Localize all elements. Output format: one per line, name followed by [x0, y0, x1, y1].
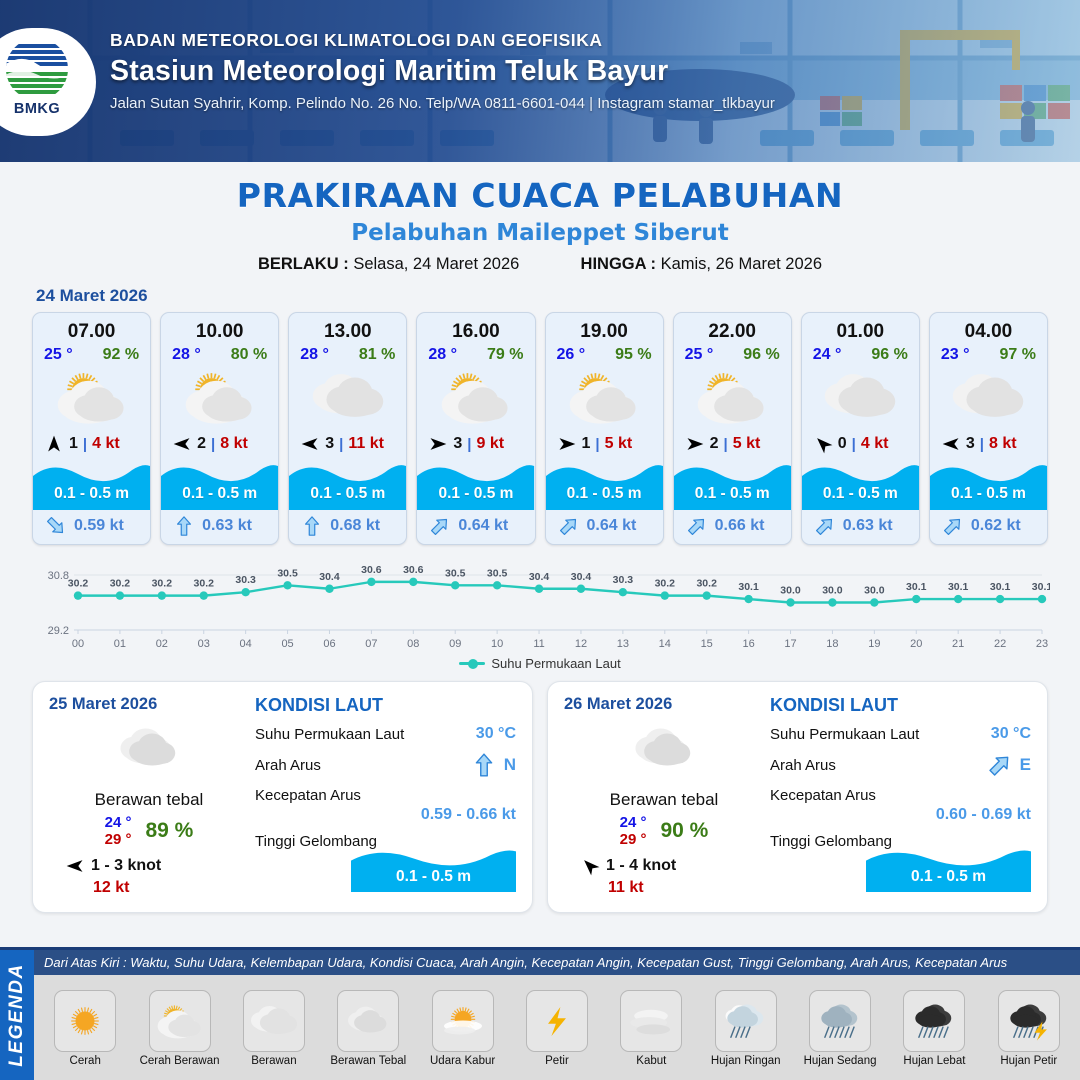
- wind-direction-e-icon: [685, 434, 705, 454]
- sst-chart: 30.829.230.20030.20130.20230.20330.30430…: [30, 557, 1050, 652]
- card-wind-row: 3 | 11 kt: [289, 428, 406, 458]
- title-block: PRAKIRAAN CUACA PELABUHAN Pelabuhan Mail…: [0, 162, 1080, 274]
- wind-direction-w-icon: [300, 434, 320, 454]
- card-current-row: 0.64 kt: [417, 510, 534, 544]
- card-weather-icon: [802, 366, 919, 428]
- panel-wave-height: 0.1 - 0.5 m: [866, 868, 1031, 886]
- legend-item-label: Hujan Lebat: [903, 1055, 965, 1067]
- card-current-speed: 0.63 kt: [202, 517, 252, 535]
- card-wind-row: 0 | 4 kt: [802, 428, 919, 458]
- panel-wind-range: 1 - 3 knot: [91, 857, 161, 875]
- daily-panel: 26 Maret 2026 Berawan tebal 24 ° 29 ° 90…: [547, 681, 1048, 913]
- svg-text:30.1: 30.1: [738, 581, 759, 593]
- legend-item-icon: [337, 990, 399, 1052]
- panel-temp-max: 29 °: [105, 831, 132, 848]
- panel-sst-label: Suhu Permukaan Laut: [255, 726, 404, 743]
- card-gust: 5 kt: [605, 435, 633, 453]
- card-temperature: 25 °: [685, 346, 714, 364]
- cerah-berawan-icon: [177, 367, 263, 427]
- svg-text:10: 10: [491, 638, 503, 650]
- legend-item-icon: [809, 990, 871, 1052]
- legend-item-label: Hujan Ringan: [711, 1055, 781, 1067]
- card-wind-speed: 1: [69, 435, 78, 453]
- svg-text:30.0: 30.0: [780, 585, 801, 597]
- card-wind-row: 3 | 8 kt: [930, 428, 1047, 458]
- card-current-speed: 0.64 kt: [587, 517, 637, 535]
- panel-current-dir: E: [987, 752, 1031, 778]
- panel-date: 26 Maret 2026: [564, 695, 764, 714]
- svg-text:30.5: 30.5: [445, 567, 466, 579]
- card-separator: |: [211, 436, 215, 453]
- svg-text:03: 03: [198, 638, 210, 650]
- card-time: 07.00: [33, 313, 150, 343]
- wind-direction-nw-icon: [813, 434, 833, 454]
- legend-item: Cerah: [40, 990, 130, 1067]
- panel-date: 25 Maret 2026: [49, 695, 249, 714]
- forecast-card: 19.00 26 ° 95 % 1 | 5 kt 0.1 - 0.5 m: [545, 312, 664, 545]
- card-wave: 0.1 - 0.5 m: [802, 458, 919, 510]
- wind-direction-n-icon: [44, 434, 64, 454]
- legend-label: Suhu Permukaan Laut: [491, 656, 620, 671]
- legend-item-icon: [526, 990, 588, 1052]
- svg-text:00: 00: [72, 638, 84, 650]
- svg-text:30.2: 30.2: [152, 578, 173, 590]
- berawan-tebal-icon: [624, 721, 704, 777]
- card-humidity: 79 %: [487, 346, 523, 364]
- hourly-forecast-cards: 07.00 25 ° 92 % 1 | 4 kt 0.1 - 0.5 m: [0, 312, 1080, 545]
- legend-items: Cerah Cerah Berawan Berawan Berawan Teba…: [34, 975, 1080, 1080]
- panel-sst-value: 30 °C: [476, 725, 516, 743]
- card-temperature: 24 °: [813, 346, 842, 364]
- svg-text:14: 14: [659, 638, 671, 650]
- card-gust: 11 kt: [348, 435, 384, 453]
- card-time: 01.00: [802, 313, 919, 343]
- card-current-speed: 0.64 kt: [458, 517, 508, 535]
- panel-wave: 0.1 - 0.5 m: [351, 844, 516, 892]
- card-wind-row: 1 | 5 kt: [546, 428, 663, 458]
- card-temperature: 23 °: [941, 346, 970, 364]
- svg-text:30.4: 30.4: [571, 571, 592, 583]
- card-gust: 5 kt: [733, 435, 761, 453]
- card-wave: 0.1 - 0.5 m: [33, 458, 150, 510]
- legend-item-label: Berawan: [251, 1055, 296, 1067]
- panel-temps: 24 ° 29 ° 89 %: [49, 814, 249, 848]
- wind-direction-w-icon: [941, 434, 961, 454]
- card-wave: 0.1 - 0.5 m: [930, 458, 1047, 510]
- legend-caption: Dari Atas Kiri : Waktu, Suhu Udara, Kele…: [34, 950, 1080, 975]
- legend-item-icon: [998, 990, 1060, 1052]
- cerah-berawan-icon: [689, 367, 775, 427]
- daily-panel: 25 Maret 2026 Berawan tebal 24 ° 29 ° 89…: [32, 681, 533, 913]
- card-wave-height: 0.1 - 0.5 m: [161, 485, 278, 503]
- panel-current-speed: 0.60 - 0.69 kt: [770, 806, 1031, 824]
- card-wave-height: 0.1 - 0.5 m: [930, 485, 1047, 503]
- page-header: BMKG BADAN METEOROLOGI KLIMATOLOGI DAN G…: [0, 0, 1080, 162]
- svg-text:30.0: 30.0: [864, 585, 885, 597]
- panel-current-dir-label-value: N: [504, 755, 516, 775]
- legend-item: Hujan Ringan: [701, 990, 791, 1067]
- berawan-icon: [945, 367, 1031, 427]
- card-humidity: 80 %: [231, 346, 267, 364]
- panel-condition: Berawan tebal: [564, 790, 764, 810]
- hujan-petir-icon: [1001, 995, 1057, 1047]
- chart-legend: Suhu Permukaan Laut: [0, 656, 1080, 671]
- valid-until-value: Kamis, 26 Maret 2026: [661, 255, 822, 273]
- card-time: 13.00: [289, 313, 406, 343]
- hujan-lebat-icon: [906, 995, 962, 1047]
- panel-sst-value: 30 °C: [991, 725, 1031, 743]
- card-weather-icon: [289, 366, 406, 428]
- panel-wind-row: 1 - 3 knot: [49, 856, 249, 876]
- card-gust: 8 kt: [220, 435, 248, 453]
- legend-item-icon: [715, 990, 777, 1052]
- panel-current-speed-label: Kecepatan Arus: [770, 787, 876, 804]
- card-temperature: 26 °: [557, 346, 586, 364]
- svg-text:30.2: 30.2: [194, 578, 215, 590]
- berawan-icon: [305, 367, 391, 427]
- svg-text:30.0: 30.0: [822, 585, 843, 597]
- sst-chart-svg: 30.829.230.20030.20130.20230.20330.30430…: [30, 557, 1050, 652]
- svg-text:12: 12: [575, 638, 587, 650]
- card-wave: 0.1 - 0.5 m: [417, 458, 534, 510]
- card-wind-row: 2 | 8 kt: [161, 428, 278, 458]
- current-direction-ne-icon: [814, 515, 836, 537]
- card-separator: |: [724, 436, 728, 453]
- card-time: 22.00: [674, 313, 791, 343]
- svg-text:30.6: 30.6: [361, 564, 382, 576]
- svg-text:30.3: 30.3: [235, 574, 256, 586]
- card-wind-speed: 3: [325, 435, 334, 453]
- panel-gust: 12 kt: [49, 879, 249, 897]
- card-temperature: 28 °: [172, 346, 201, 364]
- daily-panels: 25 Maret 2026 Berawan tebal 24 ° 29 ° 89…: [0, 671, 1080, 913]
- panel-sea-heading: KONDISI LAUT: [770, 695, 1031, 716]
- svg-text:30.1: 30.1: [906, 581, 927, 593]
- card-wind-row: 3 | 9 kt: [417, 428, 534, 458]
- svg-text:16: 16: [742, 638, 754, 650]
- panel-temp-max: 29 °: [620, 831, 647, 848]
- card-wind-speed: 2: [710, 435, 719, 453]
- card-wind-speed: 3: [966, 435, 975, 453]
- svg-text:04: 04: [240, 638, 252, 650]
- svg-text:09: 09: [449, 638, 461, 650]
- card-separator: |: [852, 436, 856, 453]
- panel-humidity: 89 %: [145, 819, 193, 843]
- card-wave-height: 0.1 - 0.5 m: [417, 485, 534, 503]
- legend-item-icon: [243, 990, 305, 1052]
- svg-text:08: 08: [407, 638, 419, 650]
- page-title: PRAKIRAAN CUACA PELABUHAN: [0, 176, 1080, 215]
- forecast-day-label: 24 Maret 2026: [36, 286, 1080, 306]
- svg-text:11: 11: [533, 638, 544, 650]
- berawan-icon: [246, 995, 302, 1047]
- card-weather-icon: [930, 366, 1047, 428]
- card-humidity: 97 %: [1000, 346, 1036, 364]
- card-time: 16.00: [417, 313, 534, 343]
- station-name: Stasiun Meteorologi Maritim Teluk Bayur: [110, 55, 775, 88]
- current-direction-ne-icon: [429, 515, 451, 537]
- svg-text:22: 22: [994, 638, 1006, 650]
- wind-direction-w-icon: [65, 856, 85, 876]
- svg-text:17: 17: [784, 638, 796, 650]
- card-separator: |: [595, 436, 599, 453]
- legend-item-label: Hujan Sedang: [804, 1055, 877, 1067]
- card-current-row: 0.68 kt: [289, 510, 406, 544]
- bmkg-logo-text: BMKG: [14, 101, 60, 117]
- card-current-speed: 0.68 kt: [330, 517, 380, 535]
- panel-current-dir-label: Arah Arus: [770, 757, 836, 774]
- forecast-card: 04.00 23 ° 97 % 3 | 8 kt 0.1 - 0.5 m: [929, 312, 1048, 545]
- panel-sst-label: Suhu Permukaan Laut: [770, 726, 919, 743]
- legend-item-label: Berawan Tebal: [330, 1055, 406, 1067]
- berawan-tebal-icon: [109, 721, 189, 777]
- panel-sea-heading: KONDISI LAUT: [255, 695, 516, 716]
- legend-item: Hujan Petir: [984, 990, 1074, 1067]
- svg-text:30.5: 30.5: [277, 567, 298, 579]
- panel-wave-height: 0.1 - 0.5 m: [351, 868, 516, 886]
- wind-direction-e-icon: [557, 434, 577, 454]
- card-temperature: 28 °: [300, 346, 329, 364]
- card-current-row: 0.63 kt: [802, 510, 919, 544]
- svg-text:30.8: 30.8: [48, 570, 69, 582]
- legend-item: Hujan Sedang: [795, 990, 885, 1067]
- svg-text:05: 05: [281, 638, 293, 650]
- validity-row: BERLAKU : Selasa, 24 Maret 2026 HINGGA :…: [0, 255, 1080, 274]
- current-direction-ne-icon: [558, 515, 580, 537]
- panel-temps: 24 ° 29 ° 90 %: [564, 814, 764, 848]
- legend-side-label: LEGENDA: [6, 963, 28, 1066]
- card-weather-icon: [33, 366, 150, 428]
- panel-condition: Berawan tebal: [49, 790, 249, 810]
- panel-temp-min: 24 °: [105, 814, 132, 831]
- svg-text:30.2: 30.2: [110, 578, 131, 590]
- card-weather-icon: [674, 366, 791, 428]
- cerah-berawan-icon: [561, 367, 647, 427]
- panel-wind-row: 1 - 4 knot: [564, 856, 764, 876]
- card-wave-height: 0.1 - 0.5 m: [289, 485, 406, 503]
- legend-item-icon: [432, 990, 494, 1052]
- berawan-tebal-icon: [340, 995, 396, 1047]
- legend-item-label: Udara Kabur: [430, 1055, 495, 1067]
- kabut-icon: [623, 995, 679, 1047]
- card-current-row: 0.66 kt: [674, 510, 791, 544]
- card-wave-height: 0.1 - 0.5 m: [546, 485, 663, 503]
- legend-item-icon: [54, 990, 116, 1052]
- card-wind-speed: 0: [838, 435, 847, 453]
- svg-text:30.1: 30.1: [990, 581, 1011, 593]
- card-gust: 4 kt: [92, 435, 120, 453]
- wind-direction-nw-icon: [580, 856, 600, 876]
- legend-section: LEGENDA Dari Atas Kiri : Waktu, Suhu Uda…: [0, 947, 1080, 1080]
- svg-text:30.2: 30.2: [655, 578, 676, 590]
- legend-item-icon: [149, 990, 211, 1052]
- legend-item: Hujan Lebat: [889, 990, 979, 1067]
- svg-text:30.2: 30.2: [68, 578, 89, 590]
- wind-direction-w-icon: [172, 434, 192, 454]
- cerah-berawan-icon: [152, 995, 208, 1047]
- svg-text:30.1: 30.1: [948, 581, 969, 593]
- agency-name: BADAN METEOROLOGI KLIMATOLOGI DAN GEOFIS…: [110, 30, 775, 51]
- bmkg-logo-mark: [0, 38, 74, 100]
- card-humidity: 96 %: [743, 346, 779, 364]
- forecast-card: 13.00 28 ° 81 % 3 | 11 kt 0.1 - 0.5 m: [288, 312, 407, 545]
- petir-icon: [529, 995, 585, 1047]
- card-temperature: 28 °: [428, 346, 457, 364]
- forecast-card: 22.00 25 ° 96 % 2 | 5 kt 0.1 - 0.5 m: [673, 312, 792, 545]
- card-separator: |: [980, 436, 984, 453]
- svg-text:19: 19: [868, 638, 880, 650]
- card-humidity: 92 %: [103, 346, 139, 364]
- card-weather-icon: [161, 366, 278, 428]
- legend-item: Berawan: [229, 990, 319, 1067]
- legend-item-icon: [903, 990, 965, 1052]
- panel-wave: 0.1 - 0.5 m: [866, 844, 1031, 892]
- panel-current-dir-label: Arah Arus: [255, 757, 321, 774]
- cerah-icon: [57, 995, 113, 1047]
- header-text-block: BADAN METEOROLOGI KLIMATOLOGI DAN GEOFIS…: [110, 30, 775, 112]
- svg-text:30.1: 30.1: [1032, 581, 1050, 593]
- udara-kabur-icon: [435, 995, 491, 1047]
- card-wave: 0.1 - 0.5 m: [289, 458, 406, 510]
- card-wave-height: 0.1 - 0.5 m: [802, 485, 919, 503]
- current-direction-ne-icon: [987, 752, 1013, 778]
- svg-text:13: 13: [617, 638, 629, 650]
- svg-text:23: 23: [1036, 638, 1048, 650]
- forecast-card: 07.00 25 ° 92 % 1 | 4 kt 0.1 - 0.5 m: [32, 312, 151, 545]
- card-wind-row: 2 | 5 kt: [674, 428, 791, 458]
- panel-wind-range: 1 - 4 knot: [606, 857, 676, 875]
- card-humidity: 95 %: [615, 346, 651, 364]
- card-current-speed: 0.63 kt: [843, 517, 893, 535]
- legend-item-label: Kabut: [636, 1055, 666, 1067]
- svg-text:20: 20: [910, 638, 922, 650]
- valid-from-label: BERLAKU :: [258, 255, 349, 273]
- card-gust: 4 kt: [861, 435, 889, 453]
- legend-item: Cerah Berawan: [134, 990, 224, 1067]
- page-subtitle: Pelabuhan Maileppet Siberut: [0, 220, 1080, 246]
- legend-item: Berawan Tebal: [323, 990, 413, 1067]
- current-direction-ne-icon: [686, 515, 708, 537]
- svg-text:02: 02: [156, 638, 168, 650]
- forecast-card: 16.00 28 ° 79 % 3 | 9 kt 0.1 - 0.5 m: [416, 312, 535, 545]
- legend-item: Kabut: [606, 990, 696, 1067]
- legend-item-label: Cerah: [70, 1055, 101, 1067]
- legend-item: Petir: [512, 990, 602, 1067]
- card-time: 04.00: [930, 313, 1047, 343]
- current-direction-n-icon: [173, 515, 195, 537]
- forecast-card: 10.00 28 ° 80 % 2 | 8 kt 0.1 - 0.5 m: [160, 312, 279, 545]
- panel-current-dir-label-value: E: [1020, 755, 1031, 775]
- svg-text:30.5: 30.5: [487, 567, 508, 579]
- cerah-berawan-icon: [49, 367, 135, 427]
- current-direction-n-icon: [471, 752, 497, 778]
- svg-text:21: 21: [952, 638, 964, 650]
- card-wind-speed: 2: [197, 435, 206, 453]
- card-temperature: 25 °: [44, 346, 73, 364]
- legend-item-icon: [620, 990, 682, 1052]
- legend-item-label: Petir: [545, 1055, 569, 1067]
- card-current-row: 0.63 kt: [161, 510, 278, 544]
- card-separator: |: [83, 436, 87, 453]
- current-direction-se-icon: [45, 515, 67, 537]
- panel-weather-icon: [564, 720, 764, 778]
- panel-current-speed-label: Kecepatan Arus: [255, 787, 361, 804]
- card-wave: 0.1 - 0.5 m: [546, 458, 663, 510]
- svg-text:29.2: 29.2: [48, 625, 69, 637]
- bmkg-logo-icon: [0, 38, 74, 100]
- valid-from-value: Selasa, 24 Maret 2026: [353, 255, 519, 273]
- svg-text:30.2: 30.2: [696, 578, 717, 590]
- legend-item-label: Cerah Berawan: [140, 1055, 220, 1067]
- wind-direction-e-icon: [428, 434, 448, 454]
- card-wave-height: 0.1 - 0.5 m: [33, 485, 150, 503]
- panel-current-dir: N: [471, 752, 516, 778]
- card-wind-speed: 1: [582, 435, 591, 453]
- card-time: 19.00: [546, 313, 663, 343]
- panel-humidity: 90 %: [660, 819, 708, 843]
- card-wave: 0.1 - 0.5 m: [161, 458, 278, 510]
- card-gust: 9 kt: [476, 435, 504, 453]
- panel-weather-icon: [49, 720, 249, 778]
- card-gust: 8 kt: [989, 435, 1017, 453]
- card-wind-speed: 3: [453, 435, 462, 453]
- card-separator: |: [339, 436, 343, 453]
- svg-text:15: 15: [701, 638, 713, 650]
- card-weather-icon: [546, 366, 663, 428]
- legend-side-bar: LEGENDA: [0, 950, 34, 1080]
- hujan-ringan-icon: [718, 995, 774, 1047]
- current-direction-ne-icon: [942, 515, 964, 537]
- station-address: Jalan Sutan Syahrir, Komp. Pelindo No. 2…: [110, 95, 775, 112]
- current-direction-n-icon: [301, 515, 323, 537]
- svg-text:30.4: 30.4: [529, 571, 550, 583]
- card-weather-icon: [417, 366, 534, 428]
- legend-item: Udara Kabur: [417, 990, 507, 1067]
- card-time: 10.00: [161, 313, 278, 343]
- svg-text:01: 01: [114, 638, 126, 650]
- valid-until-label: HINGGA :: [581, 255, 656, 273]
- svg-text:30.4: 30.4: [319, 571, 340, 583]
- card-wave: 0.1 - 0.5 m: [674, 458, 791, 510]
- svg-text:06: 06: [323, 638, 335, 650]
- card-wind-row: 1 | 4 kt: [33, 428, 150, 458]
- forecast-card: 01.00 24 ° 96 % 0 | 4 kt 0.1 - 0.5 m: [801, 312, 920, 545]
- berawan-icon: [817, 367, 903, 427]
- cerah-berawan-icon: [433, 367, 519, 427]
- panel-temp-min: 24 °: [620, 814, 647, 831]
- card-humidity: 96 %: [871, 346, 907, 364]
- svg-text:18: 18: [826, 638, 838, 650]
- panel-current-speed: 0.59 - 0.66 kt: [255, 806, 516, 824]
- panel-gust: 11 kt: [564, 879, 764, 897]
- svg-text:07: 07: [365, 638, 377, 650]
- card-current-speed: 0.59 kt: [74, 517, 124, 535]
- card-current-row: 0.59 kt: [33, 510, 150, 544]
- card-current-speed: 0.66 kt: [715, 517, 765, 535]
- hujan-sedang-icon: [812, 995, 868, 1047]
- card-current-row: 0.64 kt: [546, 510, 663, 544]
- card-current-row: 0.62 kt: [930, 510, 1047, 544]
- legend-marker-icon: [459, 662, 485, 665]
- svg-text:30.6: 30.6: [403, 564, 424, 576]
- card-separator: |: [467, 436, 471, 453]
- card-current-speed: 0.62 kt: [971, 517, 1021, 535]
- svg-text:30.3: 30.3: [613, 574, 634, 586]
- legend-item-label: Hujan Petir: [1000, 1055, 1057, 1067]
- card-wave-height: 0.1 - 0.5 m: [674, 485, 791, 503]
- card-humidity: 81 %: [359, 346, 395, 364]
